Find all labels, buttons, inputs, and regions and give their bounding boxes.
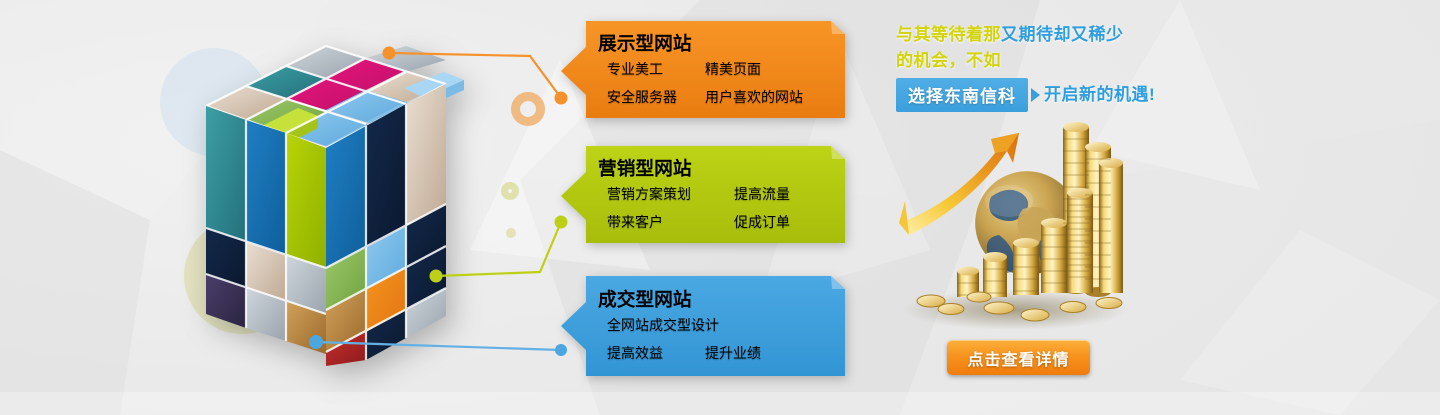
card-title-conversion: 成交型网站 [598, 285, 838, 312]
chip-conversion-1[interactable]: 全网站成交型设计 [598, 312, 821, 338]
chip-marketing-3[interactable]: 带来客户 [598, 209, 723, 235]
card-chips-conversion: 全网站成交型设计 提高效益 提升业绩 [598, 312, 838, 366]
globe-coins-illustration [895, 105, 1130, 330]
headline-line-2: 的机会，不如 [896, 48, 1196, 74]
headline-block: 与其等待着那又期待却又稀少 的机会，不如 选择东南信科 开启新的机遇! [896, 22, 1196, 112]
card-chips-marketing: 营销方案策划 提高流量 带来客户 促成订单 [598, 181, 838, 235]
chip-showcase-1[interactable]: 专业美工 [598, 56, 694, 82]
chip-showcase-3[interactable]: 安全服务器 [598, 84, 694, 110]
website-portfolio-cube [196, 36, 546, 366]
arrow-right-icon [1031, 88, 1040, 102]
card-chips-showcase: 专业美工 精美页面 安全服务器 用户喜欢的网站 [598, 56, 838, 110]
headline-line1-yellow: 与其等待着那 [896, 25, 1001, 44]
chip-showcase-4[interactable]: 用户喜欢的网站 [696, 84, 821, 110]
card-showcase[interactable]: 展示型网站 专业美工 精美页面 安全服务器 用户喜欢的网站 [560, 21, 845, 118]
card-title-showcase: 展示型网站 [598, 29, 838, 56]
chip-showcase-2[interactable]: 精美页面 [696, 56, 821, 82]
view-details-button[interactable]: 点击查看详情 [947, 340, 1090, 375]
headline-line-1: 与其等待着那又期待却又稀少 [896, 22, 1196, 48]
card-marketing[interactable]: 营销型网站 营销方案策划 提高流量 带来客户 促成订单 [560, 146, 845, 243]
promo-banner: 展示型网站 专业美工 精美页面 安全服务器 用户喜欢的网站 营销型网站 营销方案… [0, 0, 1440, 415]
chip-marketing-4[interactable]: 促成订单 [725, 209, 821, 235]
card-title-marketing: 营销型网站 [598, 154, 838, 181]
chip-conversion-3[interactable]: 提升业绩 [696, 340, 821, 366]
chip-marketing-2[interactable]: 提高流量 [725, 181, 821, 207]
headline-line1-blue: 又期待却又稀少 [1001, 25, 1124, 44]
chip-conversion-2[interactable]: 提高效益 [598, 340, 694, 366]
card-conversion[interactable]: 成交型网站 全网站成交型设计 提高效益 提升业绩 [560, 276, 845, 376]
chip-marketing-1[interactable]: 营销方案策划 [598, 181, 723, 207]
